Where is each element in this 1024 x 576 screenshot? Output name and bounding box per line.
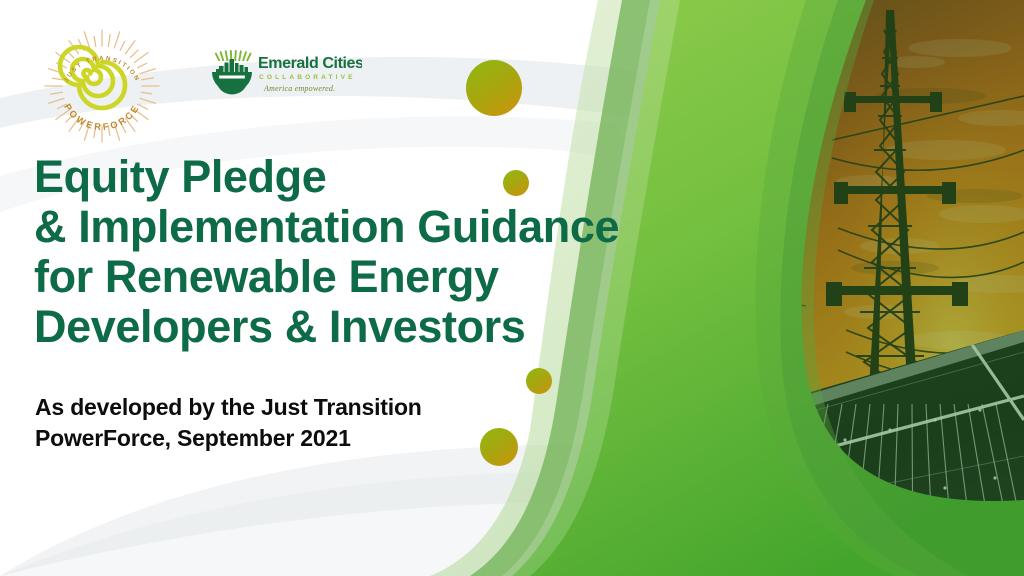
page-title: Equity Pledge & Implementation Guidance … (34, 152, 614, 352)
subtitle-line-2: PowerForce, September 2021 (35, 423, 575, 454)
emerald-cities-mark (212, 50, 252, 94)
emerald-cities-wordmark: Emerald Cities COLLABORATIVE America emp… (258, 55, 362, 93)
subtitle-line-1: As developed by the Just Transition (35, 392, 575, 423)
title-slide: JUST TRANSITION POWERFORCE (0, 0, 1024, 576)
logo-tagline: America empowered. (263, 84, 335, 93)
decor-dot-large-top (466, 60, 522, 116)
emerald-cities-collaborative-logo: Emerald Cities COLLABORATIVE America emp… (206, 50, 362, 102)
logo-line1: Emerald Cities (258, 55, 362, 72)
logo-line2: COLLABORATIVE (259, 74, 356, 81)
page-subtitle: As developed by the Just Transition Powe… (35, 392, 575, 454)
title-line-3: for Renewable Energy (34, 252, 614, 302)
decor-dot-small-lower (526, 368, 552, 394)
title-line-1: Equity Pledge (34, 152, 614, 202)
title-line-2: & Implementation Guidance (34, 202, 614, 252)
title-line-4: Developers & Investors (34, 302, 614, 352)
just-transition-powerforce-logo: JUST TRANSITION POWERFORCE (44, 26, 160, 146)
